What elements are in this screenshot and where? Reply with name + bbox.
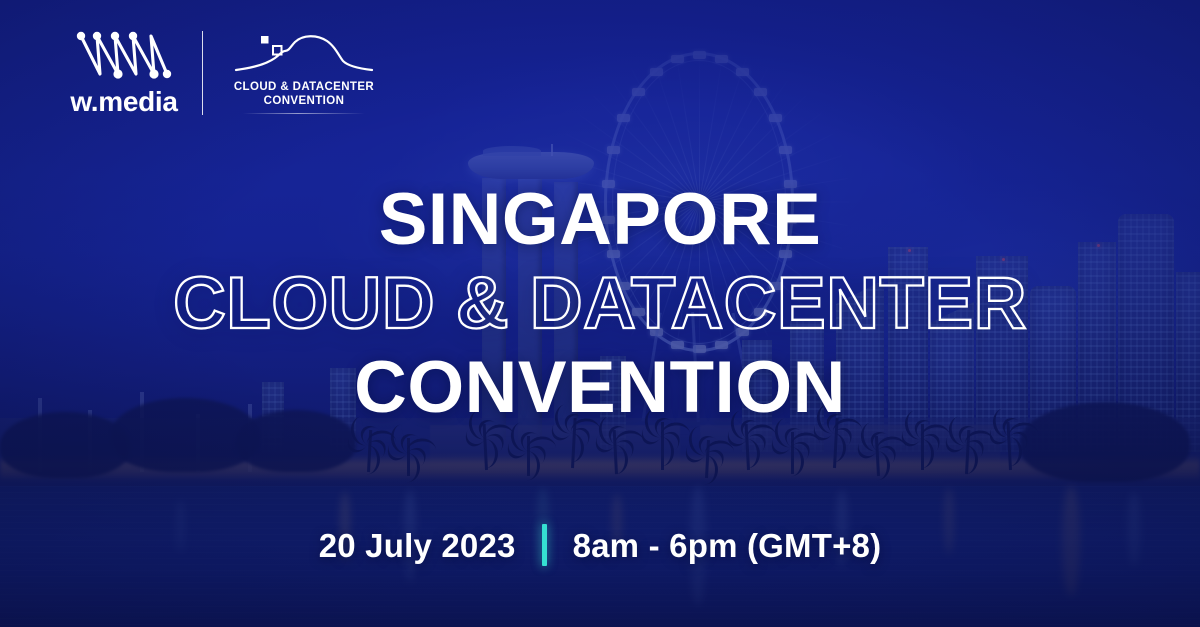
- wmedia-wordmark: w.media: [70, 88, 177, 116]
- cloud-outline-icon: [233, 32, 375, 76]
- headline-block: SINGAPORE CLOUD & DATACENTER CONVENTION: [0, 183, 1200, 424]
- event-date: 20 July 2023: [319, 529, 516, 562]
- wmedia-logo[interactable]: w.media: [68, 30, 180, 116]
- logo-divider: [202, 31, 203, 115]
- event-banner: w.media CLOUD & DATACENTER CONVENTION SI…: [0, 0, 1200, 627]
- wmedia-zigzag-wave-icon: [74, 30, 174, 82]
- convention-logo-line2: CONVENTION: [264, 94, 345, 108]
- datetime-divider: [542, 524, 547, 566]
- convention-logo[interactable]: CLOUD & DATACENTER CONVENTION: [229, 32, 379, 114]
- logo-bar: w.media CLOUD & DATACENTER CONVENTION: [68, 30, 379, 116]
- event-datetime-bar: 20 July 2023 8am - 6pm (GMT+8): [0, 524, 1200, 566]
- event-time: 8am - 6pm (GMT+8): [573, 529, 882, 562]
- headline-line-cloud-datacenter: CLOUD & DATACENTER: [0, 267, 1200, 340]
- convention-logo-underline: [243, 113, 365, 114]
- headline-line-convention: CONVENTION: [0, 351, 1200, 424]
- headline-line-singapore: SINGAPORE: [0, 183, 1200, 256]
- convention-logo-line1: CLOUD & DATACENTER: [234, 80, 374, 94]
